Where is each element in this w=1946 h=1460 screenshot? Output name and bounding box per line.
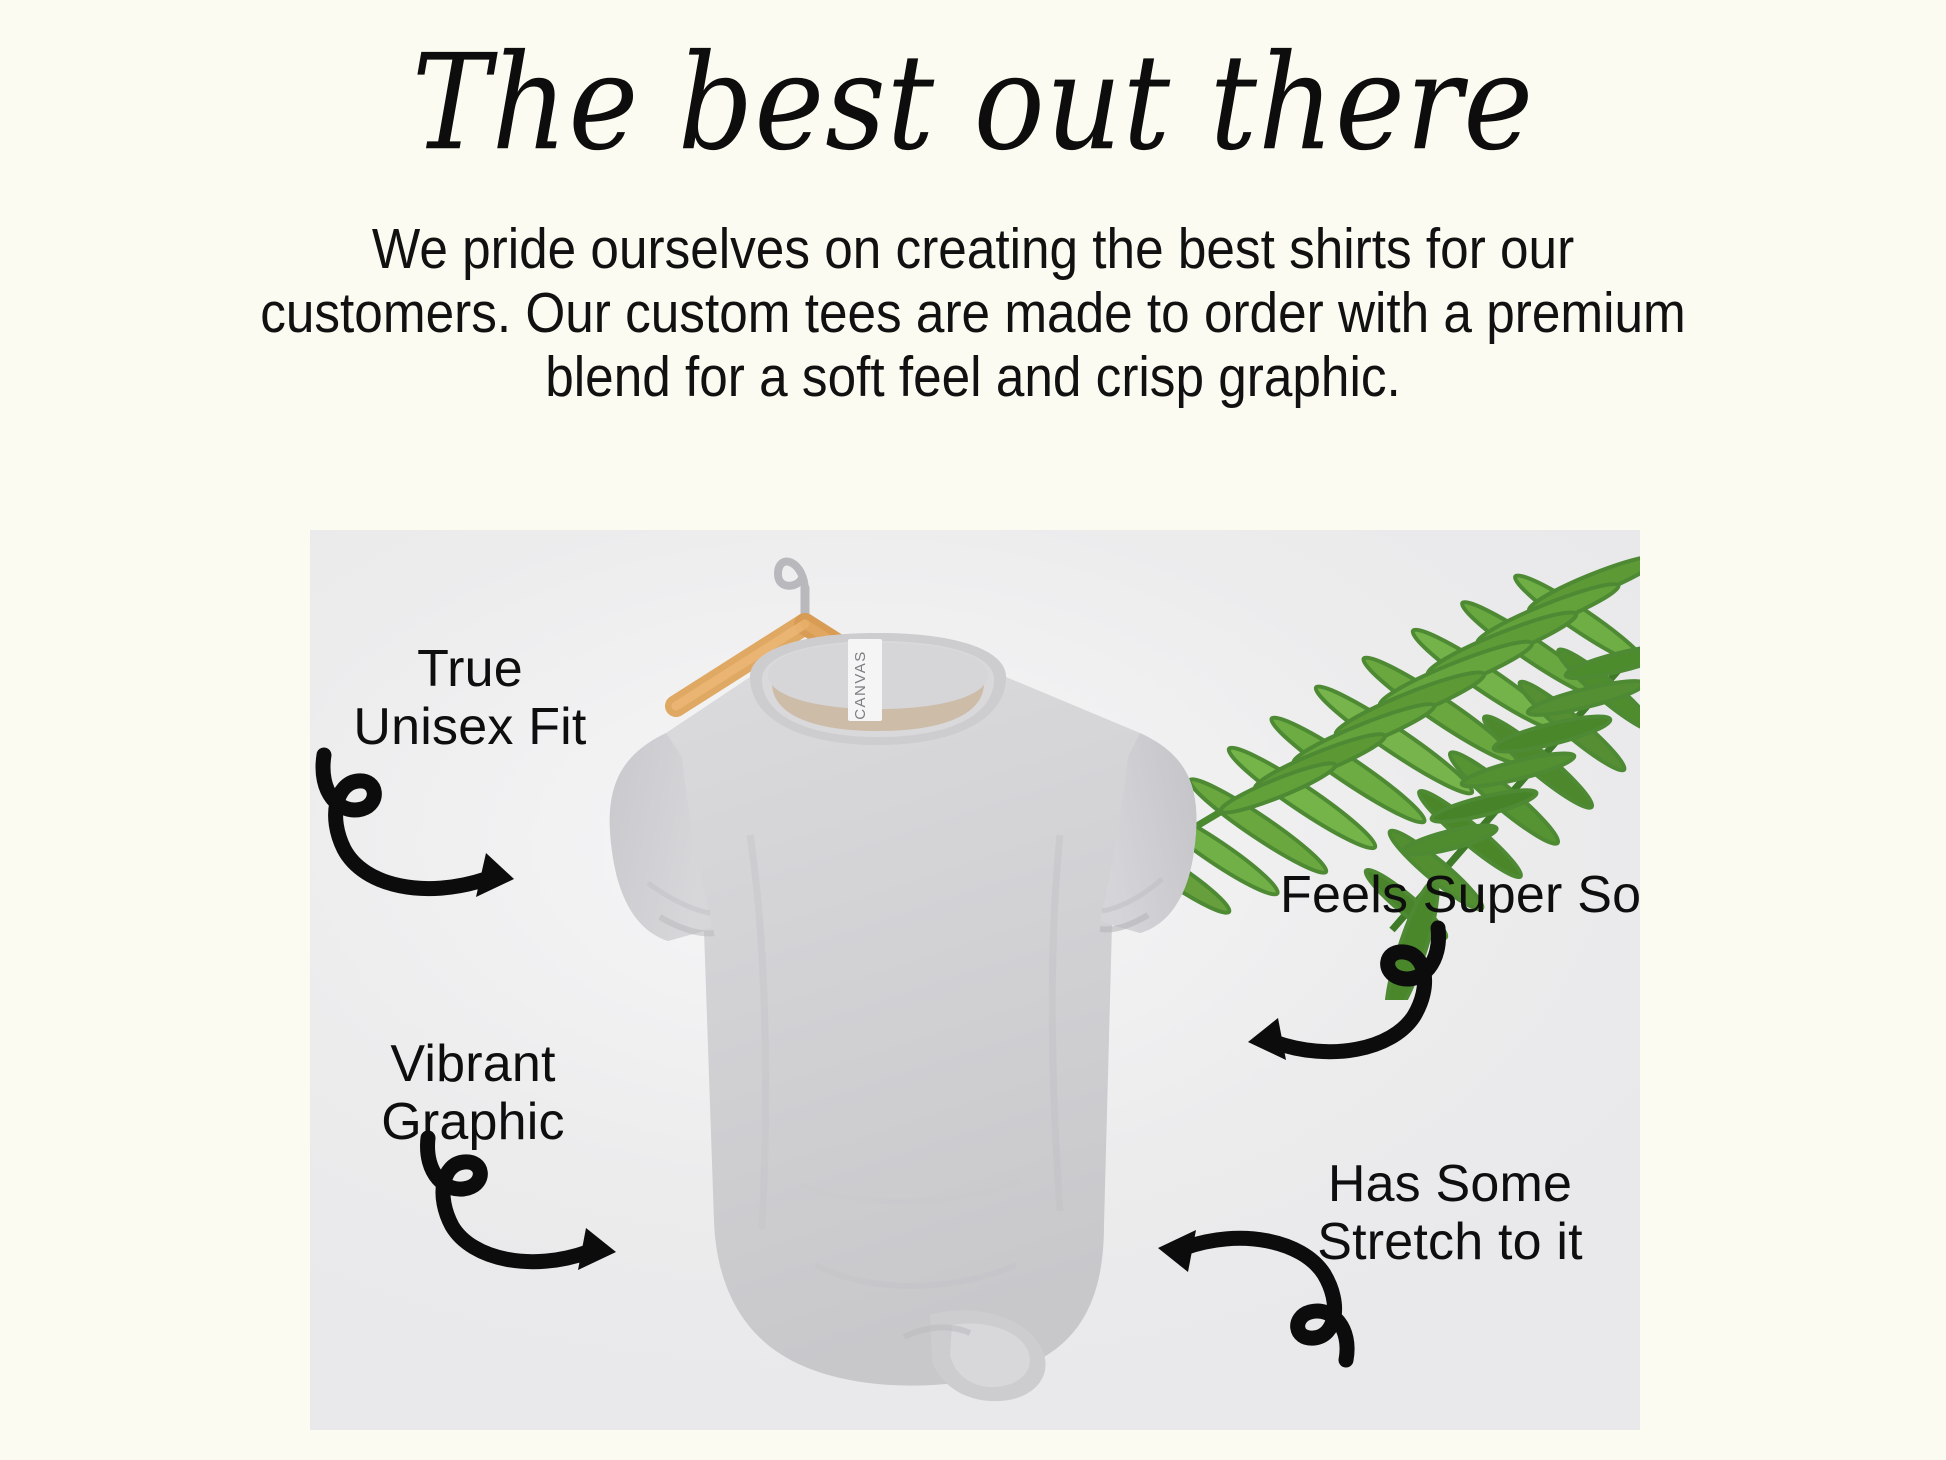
annotation-true-unisex-fit: True Unisex Fit: [320, 640, 620, 756]
product-photo: CANVAS True Unisex Fit Vibrant Graphic F…: [310, 530, 1640, 1430]
annotation-vibrant-graphic: Vibrant Graphic: [328, 1035, 618, 1151]
shirt-brand-tag-text: CANVAS: [852, 650, 869, 720]
annotation-has-some-stretch: Has Some Stretch to it: [1250, 1155, 1640, 1271]
annotation-feels-super-soft: Feels Super Soft: [1280, 866, 1640, 924]
intro-paragraph: We pride ourselves on creating the best …: [253, 218, 1693, 409]
page-title: The best out there: [0, 34, 1946, 173]
marketing-graphic-page: The best out there We pride ourselves on…: [0, 0, 1946, 1460]
